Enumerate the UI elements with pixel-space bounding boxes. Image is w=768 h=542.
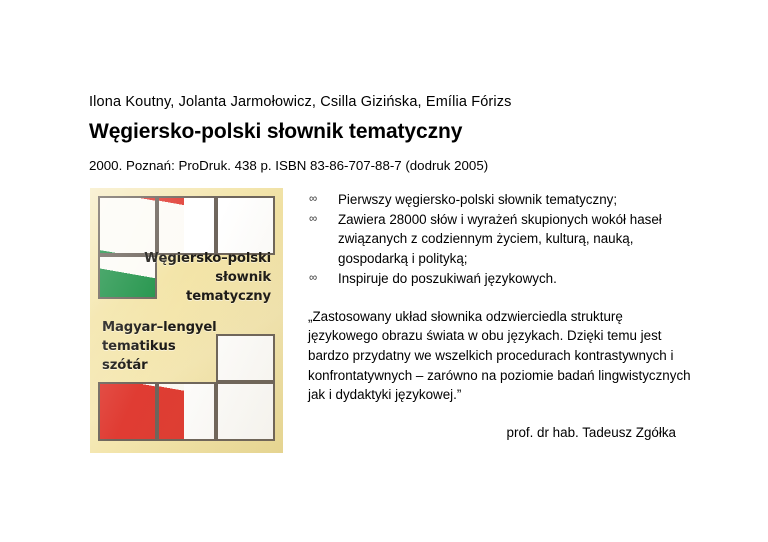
quote-attribution: prof. dr hab. Tadeusz Zgółka — [308, 425, 694, 440]
flag-cell-pl-1 — [216, 334, 275, 382]
cover-title-polish: Węgiersko–polski słownik tematyczny — [144, 250, 271, 307]
publication-info: 2000. Poznań: ProDruk. 438 p. ISBN 83-86… — [89, 158, 488, 175]
page-title: Węgiersko-polski słownik tematyczny — [89, 119, 462, 144]
flag-stripes-hu — [98, 196, 157, 255]
review-quote: „Zastosowany układ słownika odzwierciedl… — [308, 307, 694, 406]
list-item: ∞ Pierwszy węgiersko-polski słownik tema… — [308, 190, 694, 210]
flag-cell-pl-3 — [157, 382, 216, 441]
flag-cell-pl-2 — [98, 382, 157, 441]
flag-cell-hu-3 — [216, 196, 275, 255]
list-item-label: Pierwszy węgiersko-polski słownik tematy… — [338, 192, 617, 207]
description-column: ∞ Pierwszy węgiersko-polski słownik tema… — [308, 190, 694, 440]
book-cover-image: Węgiersko–polski słownik tematyczny Magy… — [90, 188, 283, 453]
infinity-bullet-icon: ∞ — [309, 210, 317, 229]
infinity-bullet-icon: ∞ — [309, 269, 317, 288]
polish-flag-banner — [98, 334, 275, 441]
infinity-bullet-icon: ∞ — [309, 190, 317, 209]
authors-line: Ilona Koutny, Jolanta Jarmołowicz, Csill… — [89, 93, 512, 111]
list-item: ∞ Inspiruje do poszukiwań językowych. — [308, 269, 694, 289]
flag-stripes-hu — [157, 196, 184, 255]
flag-stripes-pl — [98, 382, 157, 441]
flag-cell-hu-2 — [157, 196, 216, 255]
cover-title-pl-line-3: tematyczny — [144, 288, 271, 307]
list-item-label: Inspiruje do poszukiwań językowych. — [338, 271, 557, 286]
feature-list: ∞ Pierwszy węgiersko-polski słownik tema… — [308, 190, 694, 289]
cover-title-pl-line-1: Węgiersko–polski — [144, 250, 271, 269]
cover-title-pl-line-2: słownik — [144, 269, 271, 288]
flag-cell-hu-1 — [98, 196, 157, 255]
list-item: ∞ Zawiera 28000 słów i wyrażeń skupionyc… — [308, 210, 694, 269]
flag-stripes-pl — [157, 382, 184, 441]
list-item-label: Zawiera 28000 słów i wyrażeń skupionych … — [338, 212, 662, 266]
flag-cell-pl-4 — [216, 382, 275, 441]
